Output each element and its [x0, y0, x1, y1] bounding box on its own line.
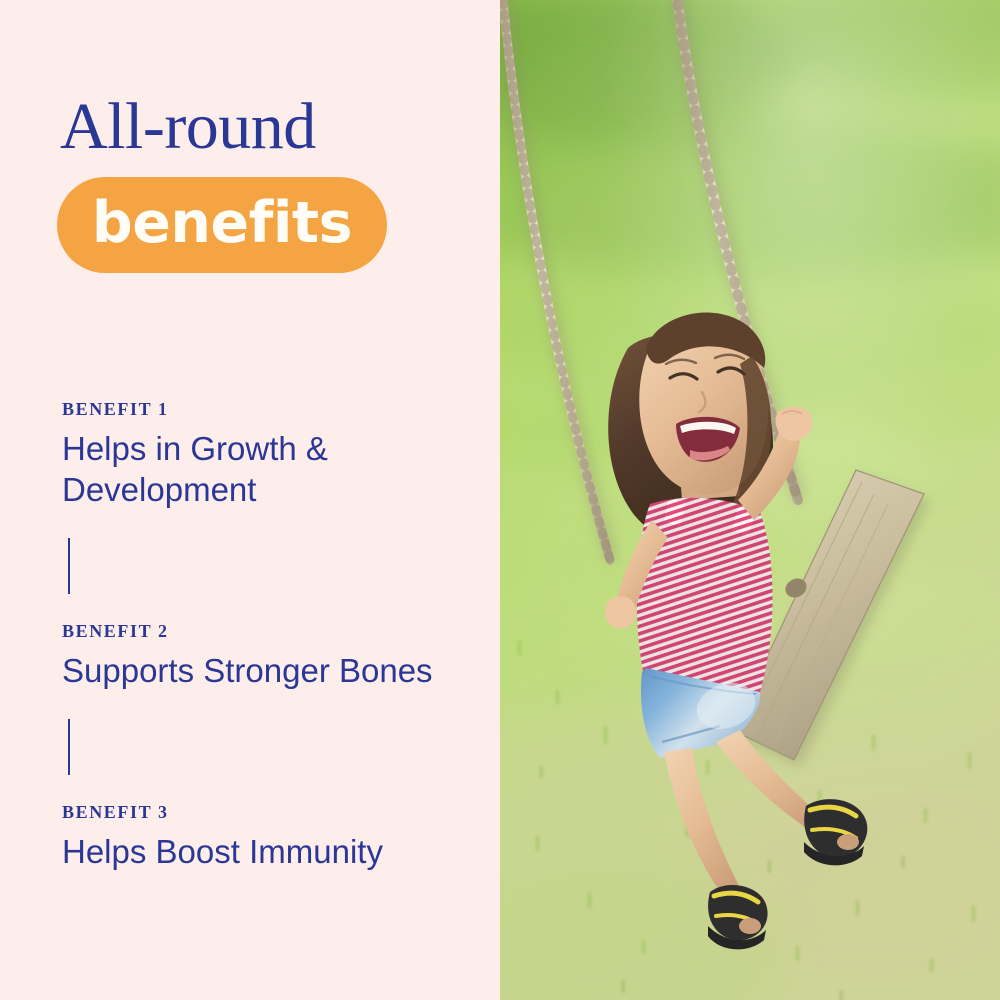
benefit-title-2: Supports Stronger Bones	[62, 650, 482, 691]
benefit-title-1: Helps in Growth & Development	[62, 428, 482, 511]
benefit-item-2: BENEFIT 2 Supports Stronger Bones	[62, 622, 482, 691]
benefit-list: BENEFIT 1 Helps in Growth & Development …	[62, 400, 482, 872]
hero-photo	[500, 0, 1000, 1000]
benefits-pill-label: benefits	[92, 195, 352, 252]
divider-line-icon-2	[68, 719, 70, 775]
benefit-item-3: BENEFIT 3 Helps Boost Immunity	[62, 803, 482, 872]
girl-on-swing-illustration	[500, 0, 1000, 1000]
divider-line-icon-1	[68, 538, 70, 594]
page-title: All-round	[60, 94, 316, 160]
photo-overlay	[500, 0, 1000, 1000]
benefit-kicker-3: BENEFIT 3	[62, 803, 482, 823]
benefit-kicker-1: BENEFIT 1	[62, 400, 482, 420]
benefits-pill-badge: benefits	[57, 177, 387, 273]
promo-canvas: All-round benefits BENEFIT 1 Helps in Gr…	[0, 0, 1000, 1000]
benefit-kicker-2: BENEFIT 2	[62, 622, 482, 642]
benefit-title-3: Helps Boost Immunity	[62, 831, 482, 872]
left-content-panel: All-round benefits BENEFIT 1 Helps in Gr…	[0, 0, 500, 1000]
benefit-item-1: BENEFIT 1 Helps in Growth & Development	[62, 400, 482, 510]
